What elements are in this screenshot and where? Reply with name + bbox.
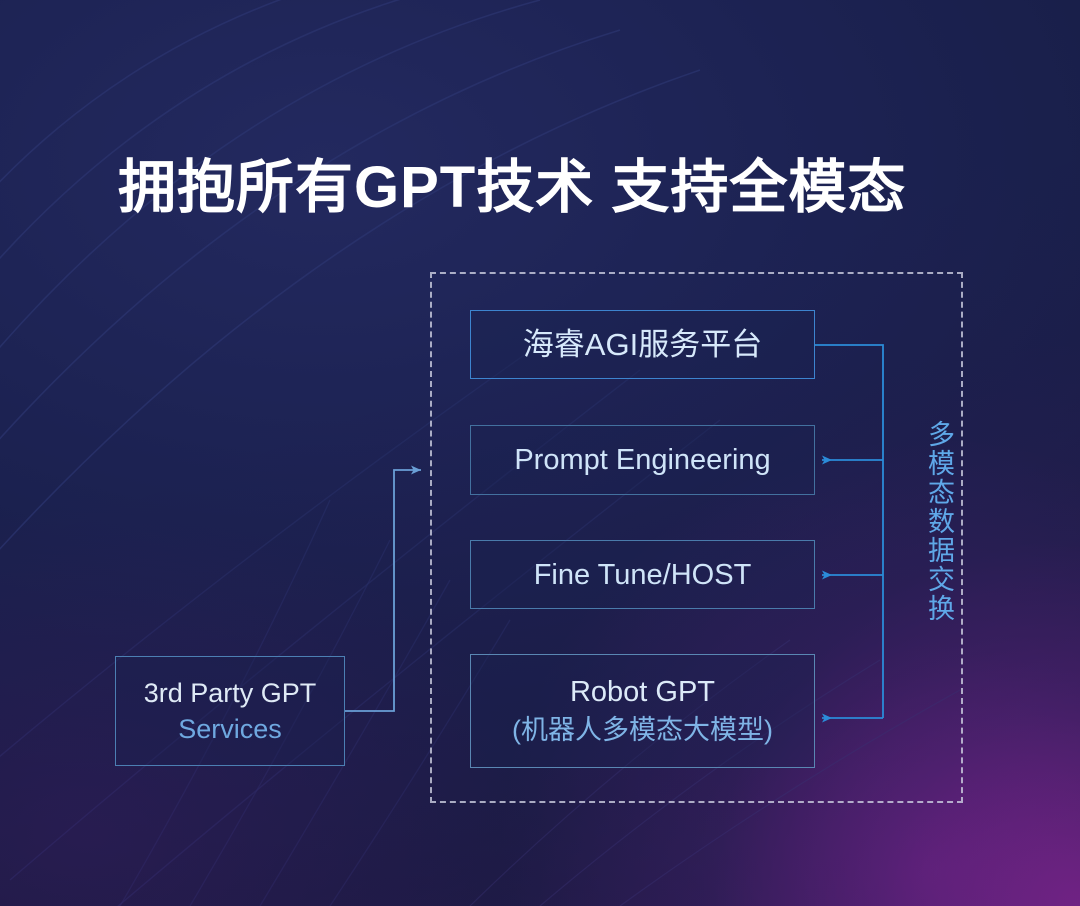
node-third-party-gpt-sublabel: Services [178,711,282,747]
node-agi-platform-label: 海睿AGI服务平台 [523,327,762,363]
node-fine-tune-host-label: Fine Tune/HOST [534,557,752,593]
slide-canvas: 拥抱所有GPT技术 支持全模态 海睿AGI服务平台 Prompt Enginee… [0,0,1080,906]
node-robot-gpt[interactable]: Robot GPT (机器人多模态大模型) [470,654,815,768]
node-robot-gpt-label: Robot GPT [570,673,715,711]
node-fine-tune-host[interactable]: Fine Tune/HOST [470,540,815,609]
node-robot-gpt-sublabel: (机器人多模态大模型) [512,711,773,749]
node-third-party-gpt-services[interactable]: 3rd Party GPT Services [115,656,345,766]
node-agi-platform[interactable]: 海睿AGI服务平台 [470,310,815,379]
multimodal-data-exchange-label: 多模态数据交换 [915,420,955,623]
node-third-party-gpt-label: 3rd Party GPT [144,675,317,711]
architecture-diagram: 海睿AGI服务平台 Prompt Engineering Fine Tune/H… [0,0,1080,906]
node-prompt-engineering[interactable]: Prompt Engineering [470,425,815,495]
node-prompt-engineering-label: Prompt Engineering [514,442,770,478]
